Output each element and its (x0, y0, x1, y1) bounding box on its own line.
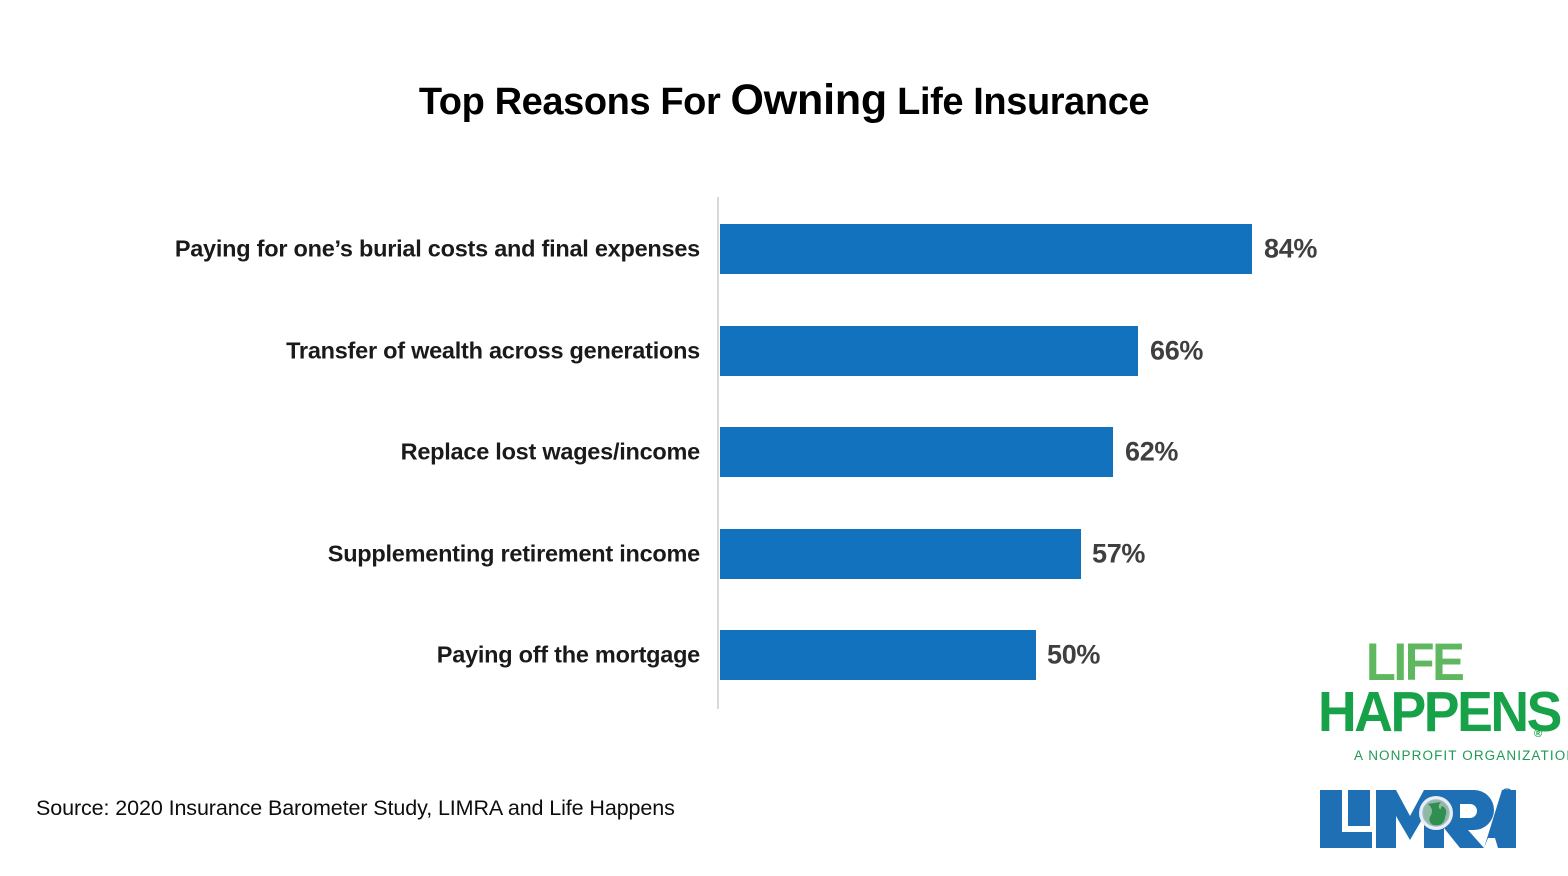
chart-slide: Top Reasons For Owning Life Insurance Pa… (0, 0, 1568, 876)
bar-row: Supplementing retirement income 57% (0, 529, 1568, 579)
limra-logo: R (1316, 786, 1516, 854)
bar-row: Replace lost wages/income 62% (0, 427, 1568, 477)
source-note: Source: 2020 Insurance Barometer Study, … (36, 796, 675, 821)
bar-paying-for-burial-costs (720, 224, 1252, 274)
category-label: Paying for one’s burial costs and final … (40, 236, 700, 263)
bar-replace-lost-wages (720, 427, 1113, 477)
category-label: Transfer of wealth across generations (40, 338, 700, 365)
bar-value-label: 57% (1092, 539, 1145, 570)
bar-row: Transfer of wealth across generations 66… (0, 326, 1568, 376)
bar-value-label: 84% (1264, 234, 1317, 265)
life-happens-logo-line2: HAPPENS (1318, 684, 1560, 741)
bar-paying-off-mortgage (720, 630, 1036, 680)
bar-value-label: 66% (1150, 336, 1203, 367)
svg-text:R: R (1505, 793, 1510, 799)
bar-supplementing-retirement-income (720, 529, 1081, 579)
life-happens-logo: LIFE HAPPENS ® A NONPROFIT ORGANIZATION (1318, 636, 1550, 768)
bar-row: Paying for one’s burial costs and final … (0, 224, 1568, 274)
category-label: Supplementing retirement income (40, 541, 700, 568)
bar-value-label: 50% (1047, 640, 1100, 671)
life-happens-tagline: A NONPROFIT ORGANIZATION (1354, 748, 1568, 763)
bar-value-label: 62% (1125, 437, 1178, 468)
limra-logo-wordmark-icon: R (1316, 786, 1516, 854)
bar-transfer-of-wealth (720, 326, 1138, 376)
category-label: Paying off the mortgage (40, 642, 700, 669)
registered-trademark-icon: ® (1534, 728, 1542, 740)
category-label: Replace lost wages/income (40, 439, 700, 466)
